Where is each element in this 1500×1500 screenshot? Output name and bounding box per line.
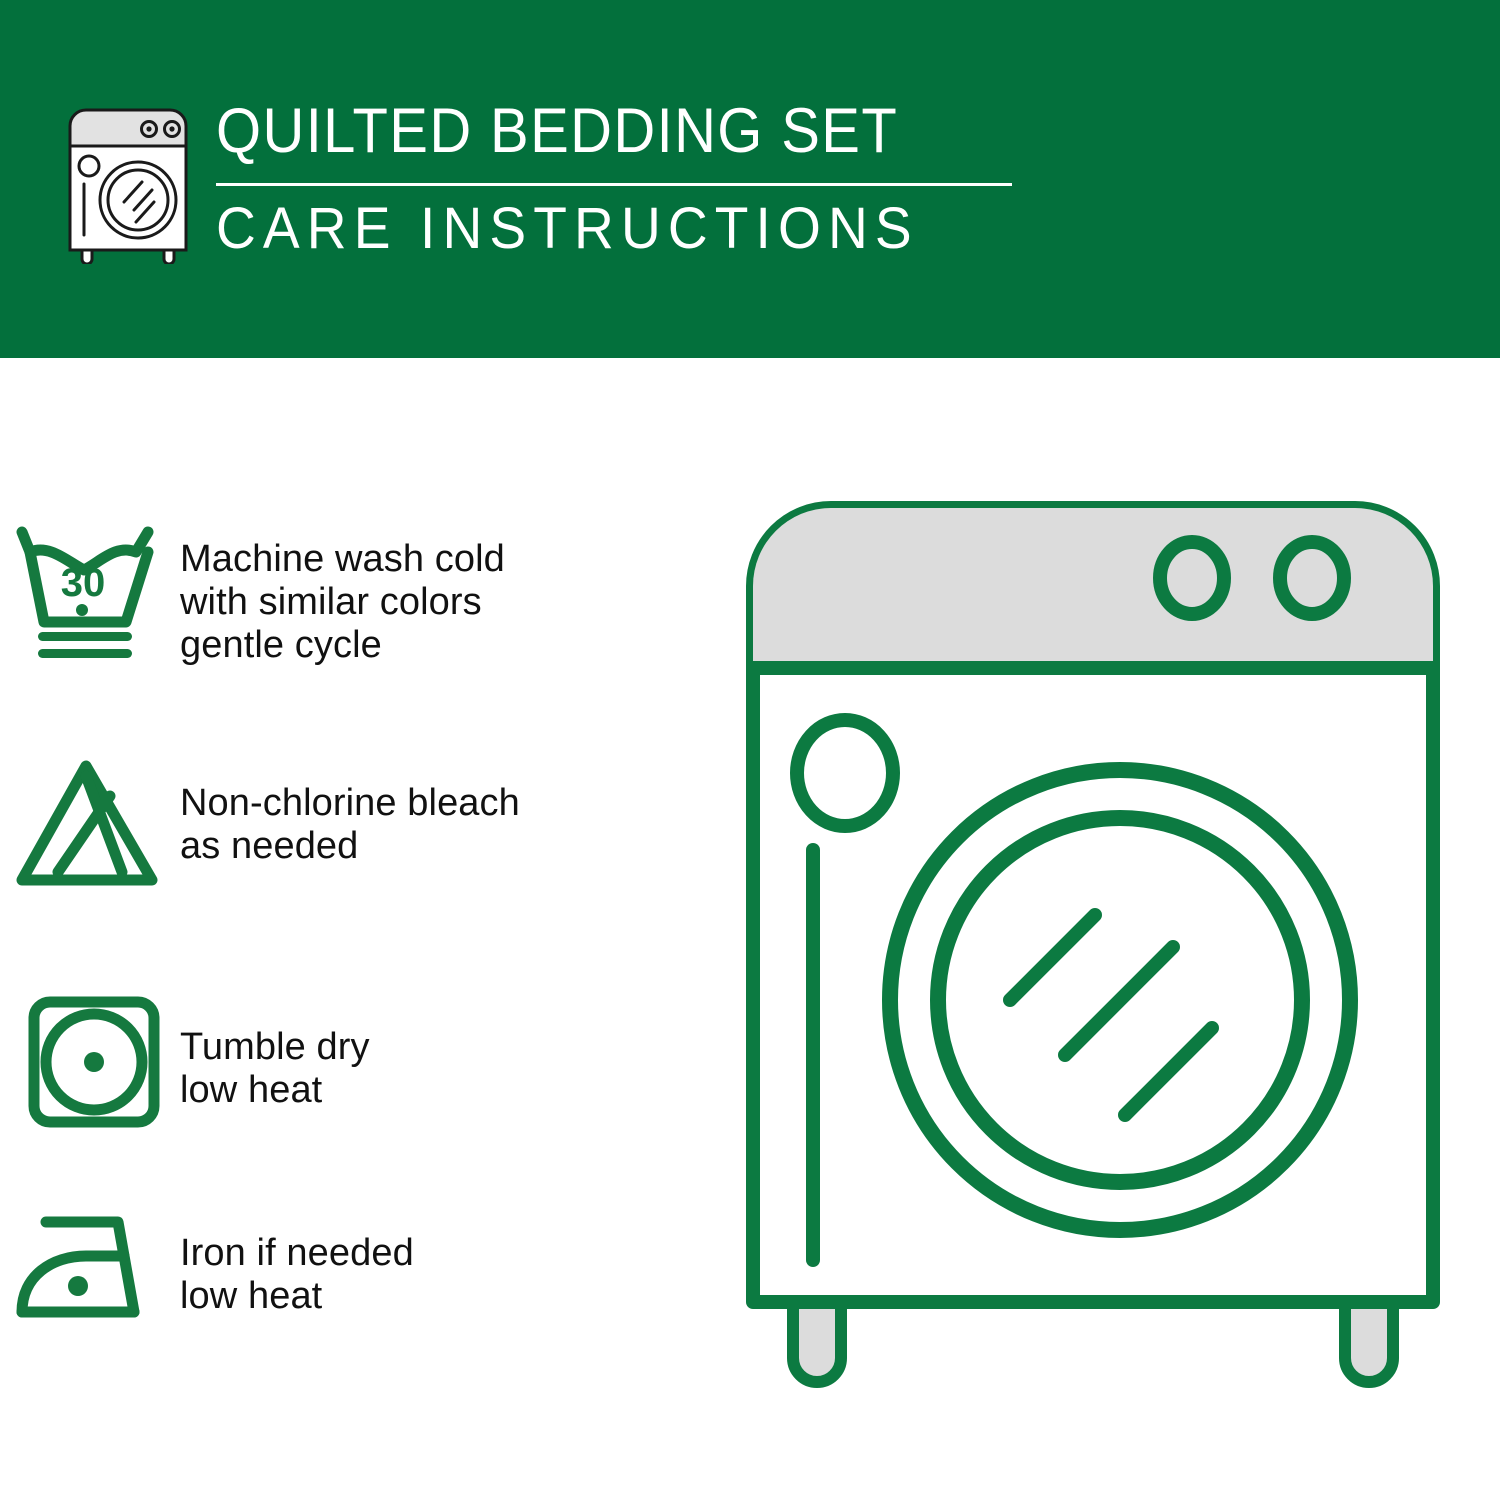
care-instruction-text: Machine wash cold with similar colors ge… (180, 518, 740, 667)
page-title: QUILTED BEDDING SET (216, 100, 952, 163)
front-load-washing-machine-illustration (735, 490, 1465, 1420)
care-instruction-text: Non-chlorine bleach as needed (180, 750, 740, 868)
iron-low-heat-icon (0, 1208, 180, 1353)
care-instruction-row: Non-chlorine bleach as needed (0, 750, 740, 895)
non-chlorine-bleach-triangle-icon (0, 750, 180, 895)
header-banner: QUILTED BEDDING SET CARE INSTRUCTIONS (0, 0, 1500, 358)
header-text-block: QUILTED BEDDING SET CARE INSTRUCTIONS (216, 100, 1016, 258)
wash-basin-30-gentle-icon: 30 (0, 518, 180, 663)
wash-temperature-label: 30 (60, 561, 105, 605)
care-instruction-row: Tumble dry low heat (0, 990, 740, 1135)
care-instructions-list: 30 Machine wash cold with similar colors… (0, 358, 740, 1500)
washing-machine-icon (62, 104, 194, 264)
page-subtitle: CARE INSTRUCTIONS (216, 200, 976, 258)
care-instruction-text: Tumble dry low heat (180, 990, 740, 1112)
care-instruction-row: 30 Machine wash cold with similar colors… (0, 518, 740, 667)
tumble-dry-low-heat-icon (0, 990, 180, 1135)
care-instruction-row: Iron if needed low heat (0, 1208, 740, 1353)
header-divider (216, 183, 1012, 186)
care-instruction-text: Iron if needed low heat (180, 1208, 740, 1318)
